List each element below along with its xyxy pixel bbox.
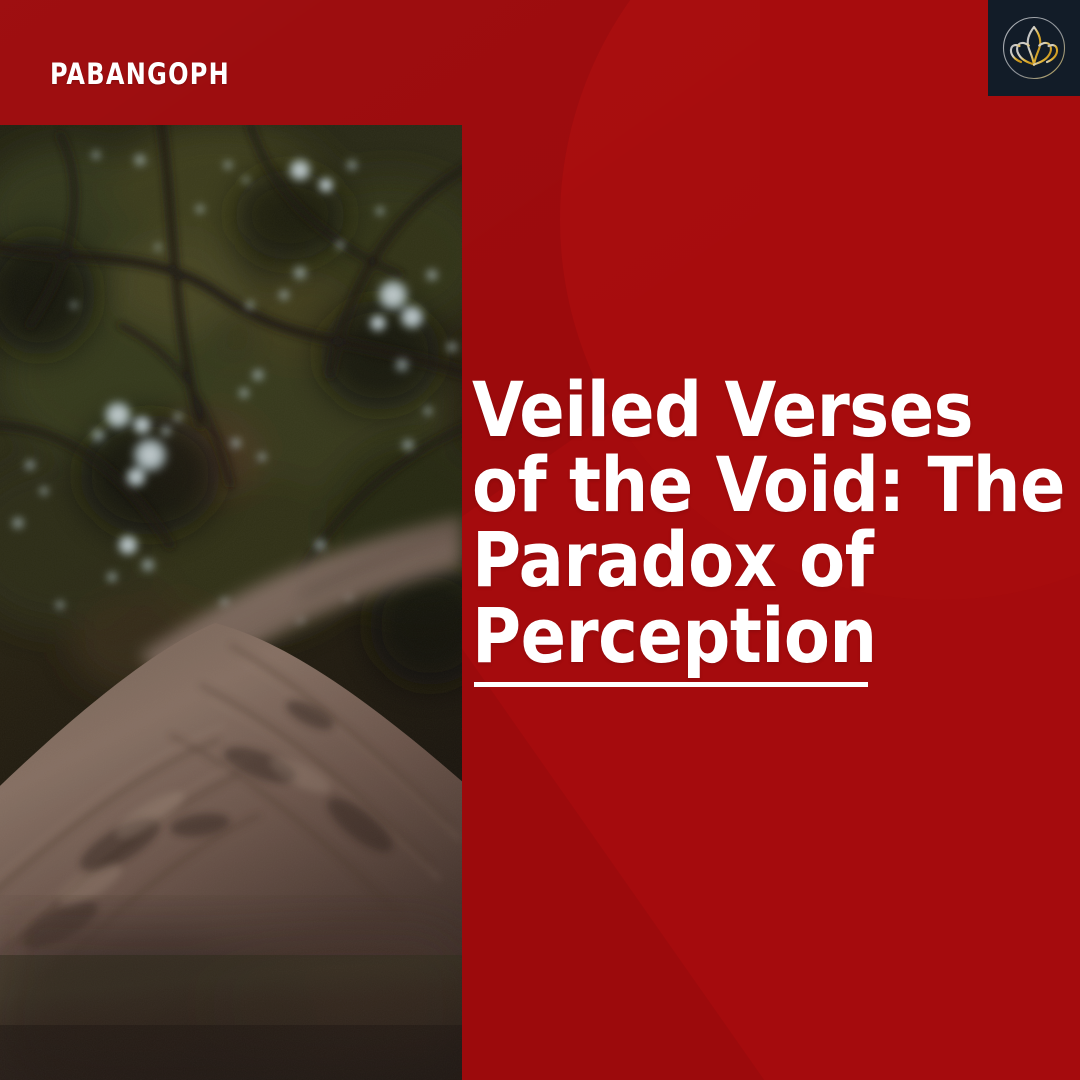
brand-name: PABANGOPH — [50, 57, 230, 91]
lotus-icon — [998, 12, 1070, 84]
headline-block: Veiled Verses of the Void: The Paradox o… — [472, 372, 1080, 687]
title-underline — [474, 682, 868, 687]
page-title: Veiled Verses of the Void: The Paradox o… — [472, 372, 1080, 673]
social-card: PABANGOPH — [0, 0, 1080, 1080]
brand-header: PABANGOPH — [0, 0, 1080, 125]
tree-canopy-illustration — [0, 125, 462, 1080]
hero-photo — [0, 125, 462, 1080]
brand-logo-badge[interactable] — [988, 0, 1080, 96]
